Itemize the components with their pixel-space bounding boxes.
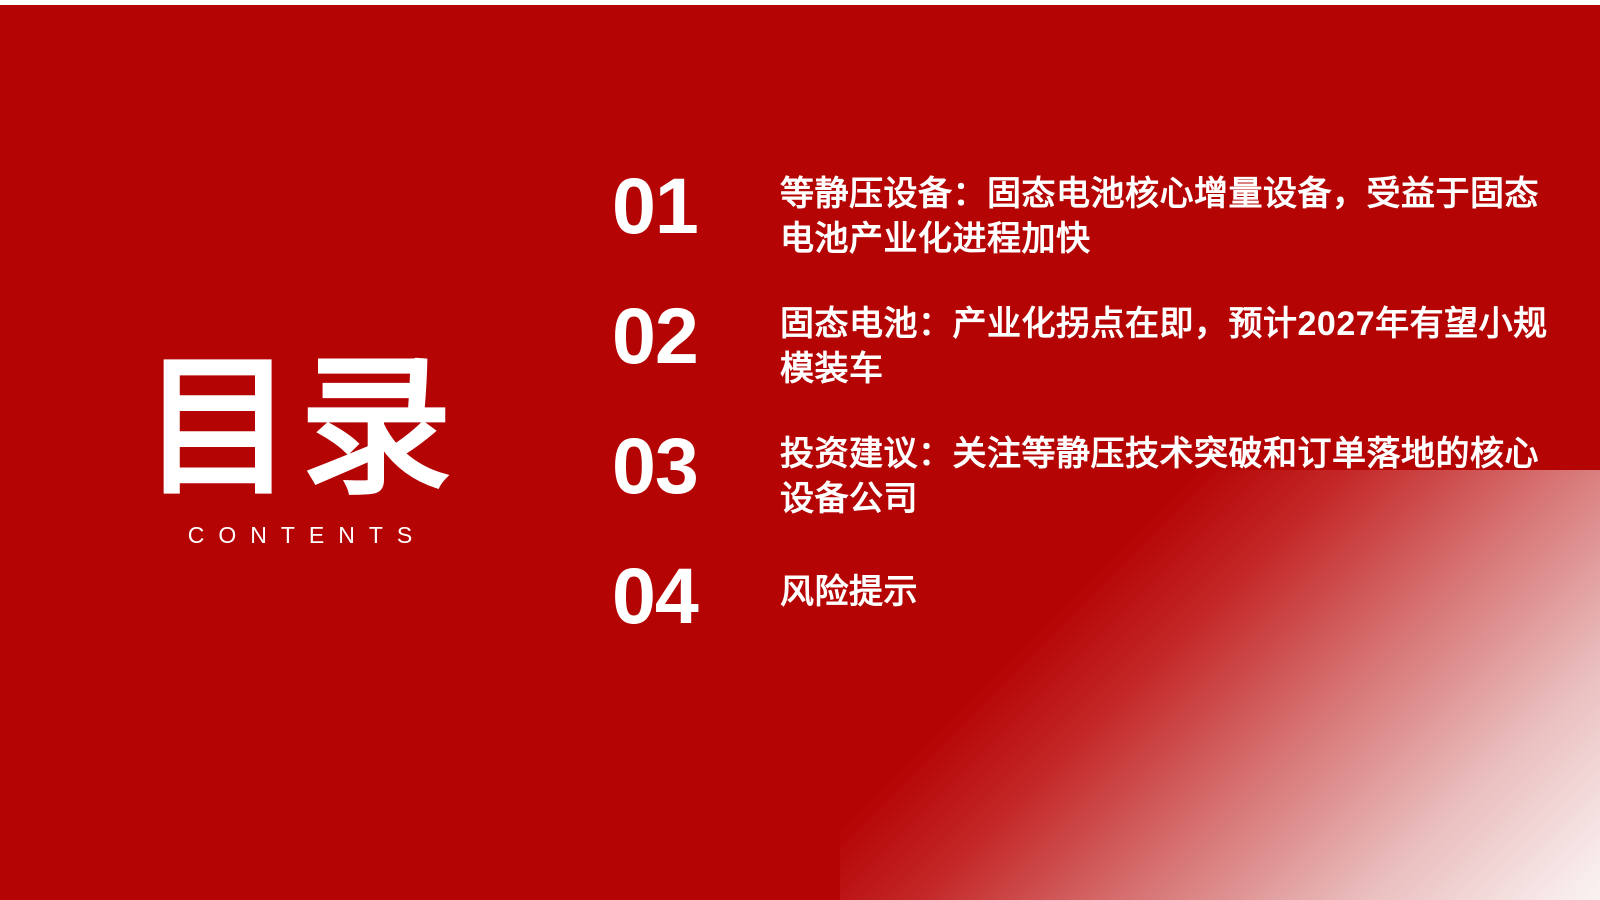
contents-item[interactable]: 01 等静压设备：固态电池核心增量设备，受益于固态电池产业化进程加快: [612, 160, 1552, 262]
page-title: 目录: [0, 352, 600, 504]
page-subtitle: CONTENTS: [0, 522, 600, 549]
top-divider-rule: [0, 0, 1600, 5]
contents-item-label: 等静压设备：固态电池核心增量设备，受益于固态电池产业化进程加快: [780, 160, 1552, 262]
contents-item-number: 02: [612, 290, 780, 382]
presentation-slide: 目录 CONTENTS 01 等静压设备：固态电池核心增量设备，受益于固态电池产…: [0, 0, 1600, 900]
contents-list: 01 等静压设备：固态电池核心增量设备，受益于固态电池产业化进程加快 02 固态…: [612, 160, 1552, 642]
title-block: 目录 CONTENTS: [0, 352, 600, 549]
contents-item[interactable]: 03 投资建议：关注等静压技术突破和订单落地的核心设备公司: [612, 420, 1552, 522]
contents-item-number: 03: [612, 420, 780, 512]
contents-item[interactable]: 04 风险提示: [612, 550, 1552, 642]
contents-item-number: 04: [612, 550, 780, 642]
contents-item-label: 风险提示: [780, 550, 1552, 615]
contents-item-number: 01: [612, 160, 780, 252]
contents-item-label: 投资建议：关注等静压技术突破和订单落地的核心设备公司: [780, 420, 1552, 522]
contents-item-label: 固态电池：产业化拐点在即，预计2027年有望小规模装车: [780, 290, 1552, 392]
contents-item[interactable]: 02 固态电池：产业化拐点在即，预计2027年有望小规模装车: [612, 290, 1552, 392]
